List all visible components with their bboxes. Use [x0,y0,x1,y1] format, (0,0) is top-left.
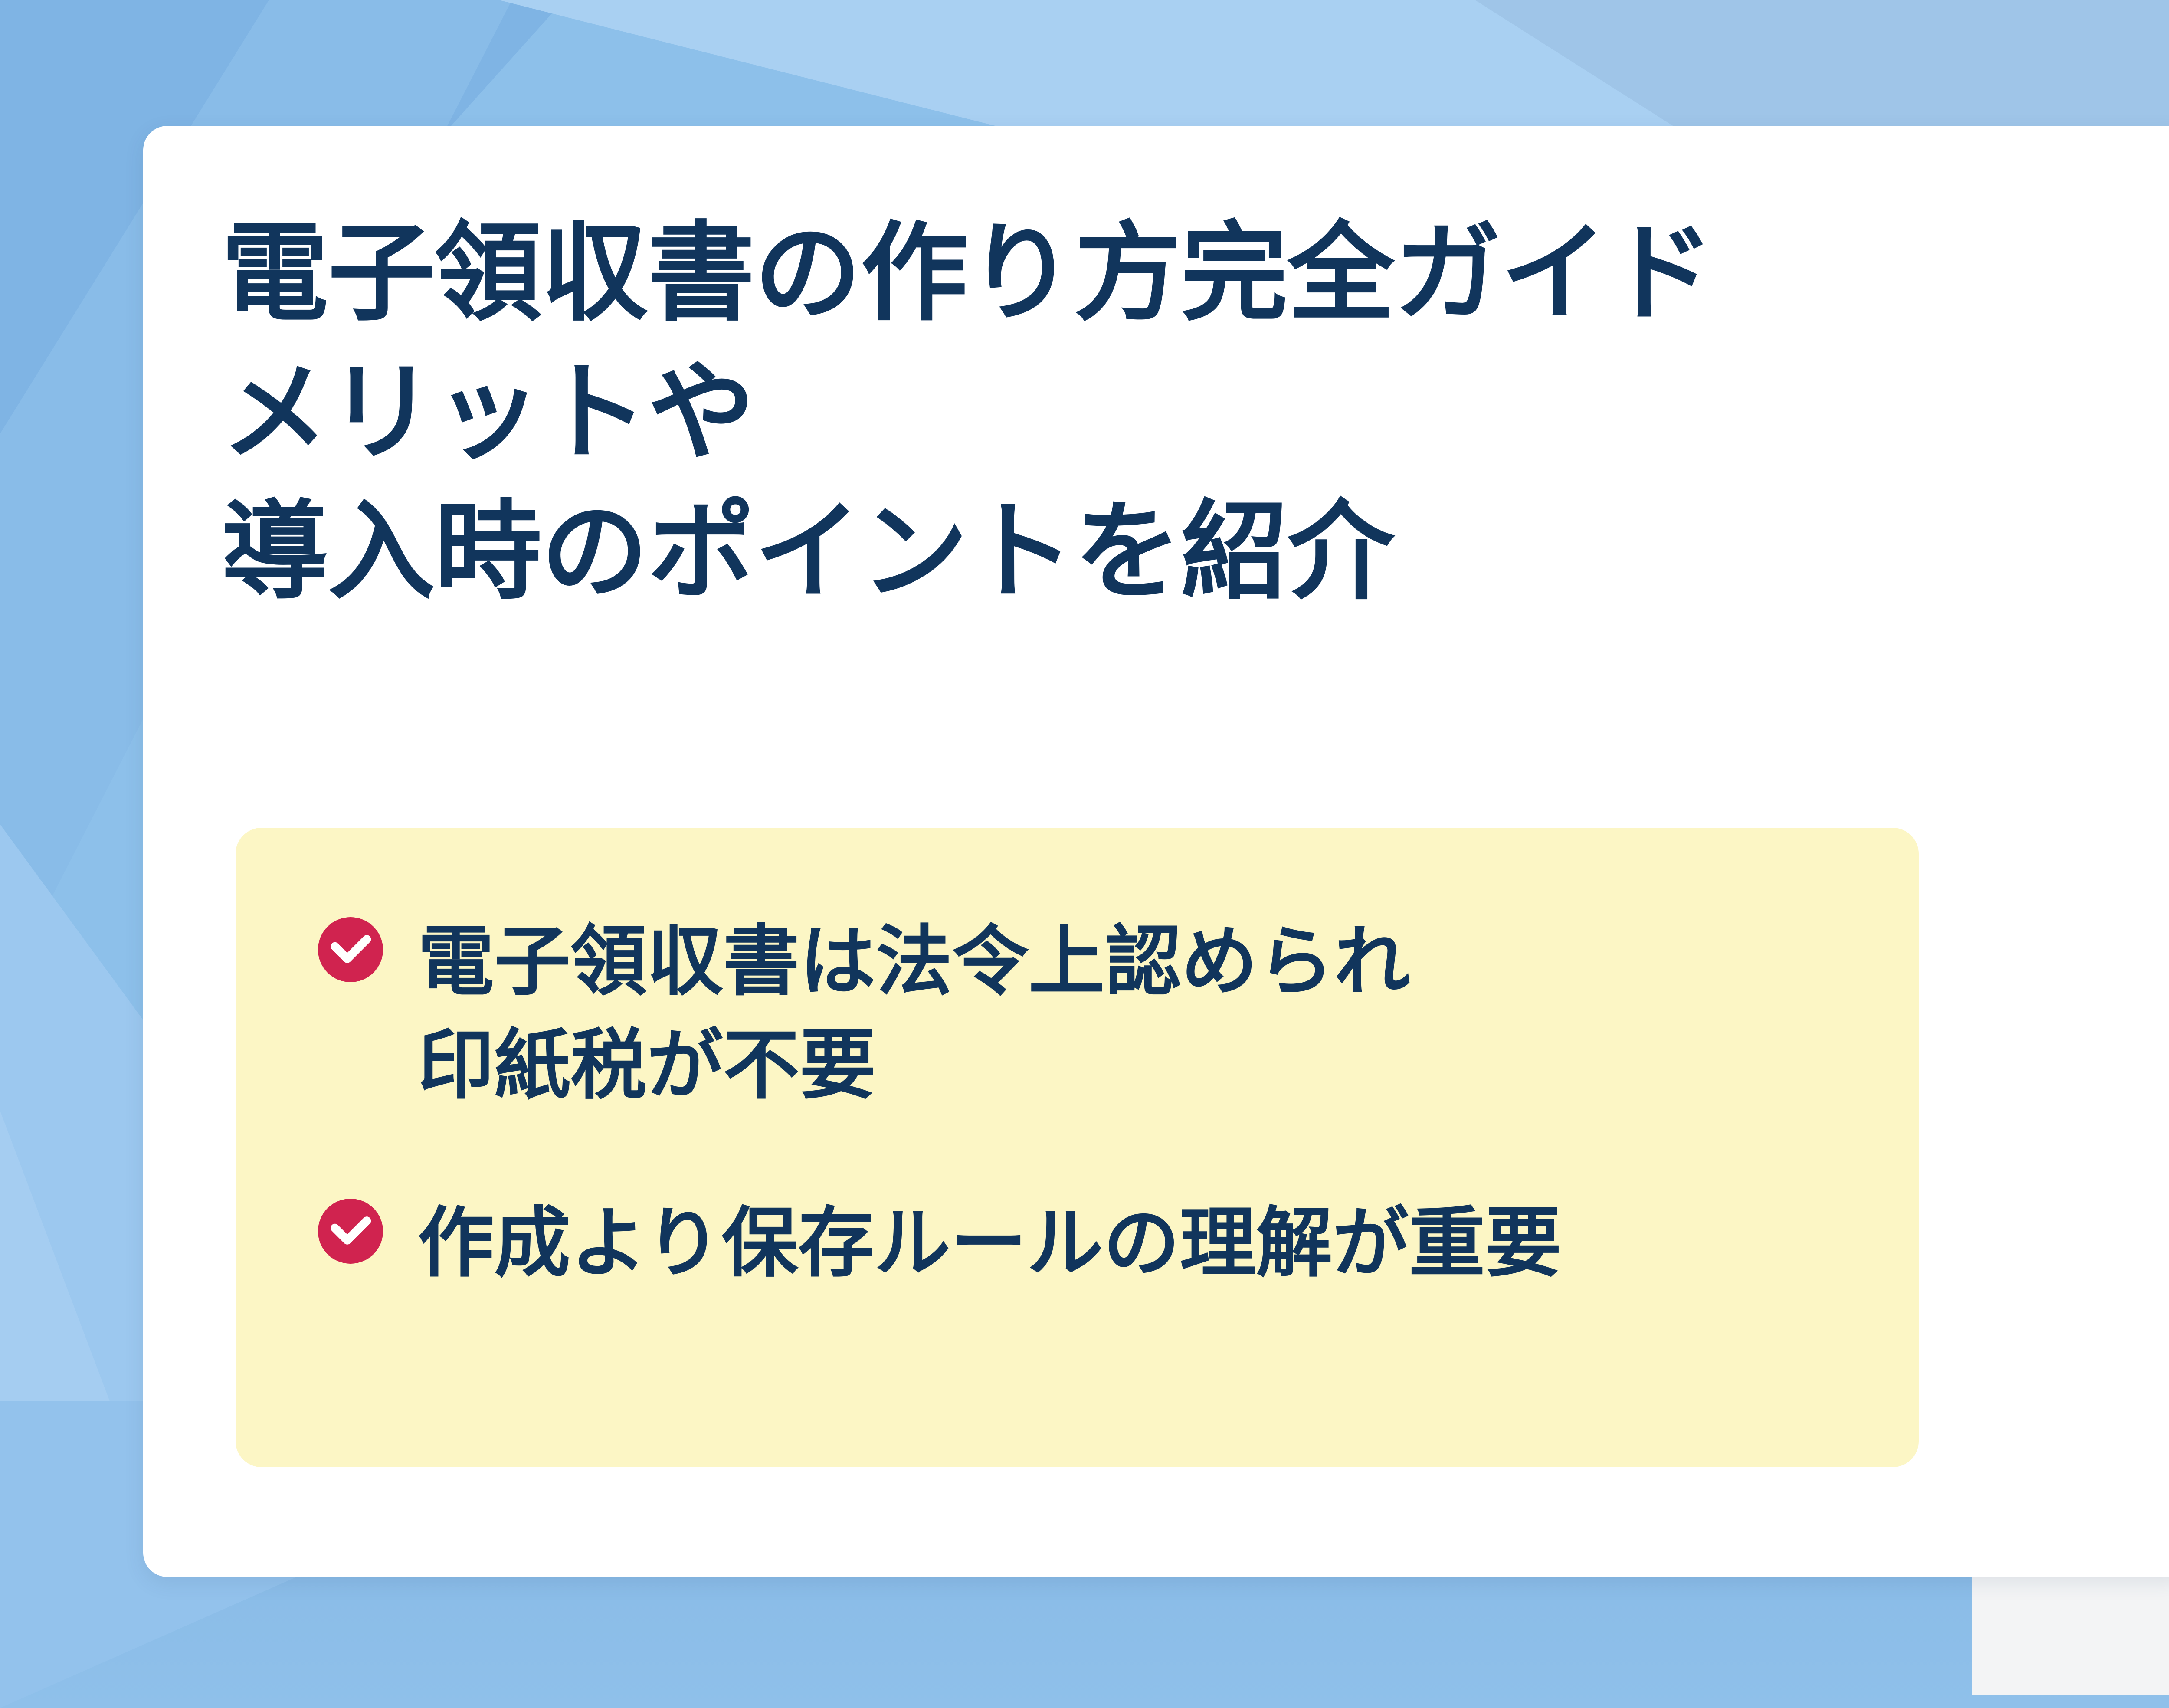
list-item-label: 作成より保存ルールの理解が重要 [418,1192,1561,1295]
list-item-label: 電子領収書は法令上認められ 印紙税が不要 [418,910,1410,1118]
list-item: 電子領収書は法令上認められ 印紙税が不要 [318,910,1888,1118]
title-line-1: 電子領収書の作り方完全ガイド [221,204,2043,343]
check-circle-icon [318,1199,383,1264]
page-title: 電子領収書の作り方完全ガイド メリットや 導入時のポイントを紹介 [221,204,2043,622]
list-item: 作成より保存ルールの理解が重要 [318,1192,1888,1295]
title-line-3: 導入時のポイントを紹介 [221,482,2043,622]
highlights-list: 電子領収書は法令上認められ 印紙税が不要 作成より保存ルールの理解が重要 [318,910,1888,1295]
highlights-box: 電子領収書は法令上認められ 印紙税が不要 作成より保存ルールの理解が重要 [236,828,1919,1467]
banner-canvas: 電子領収書の作り方完全ガイド メリットや 導入時のポイントを紹介 電子領収書は法… [0,0,2169,1708]
check-circle-icon [318,917,383,982]
title-line-2: メリットや [221,343,2043,482]
